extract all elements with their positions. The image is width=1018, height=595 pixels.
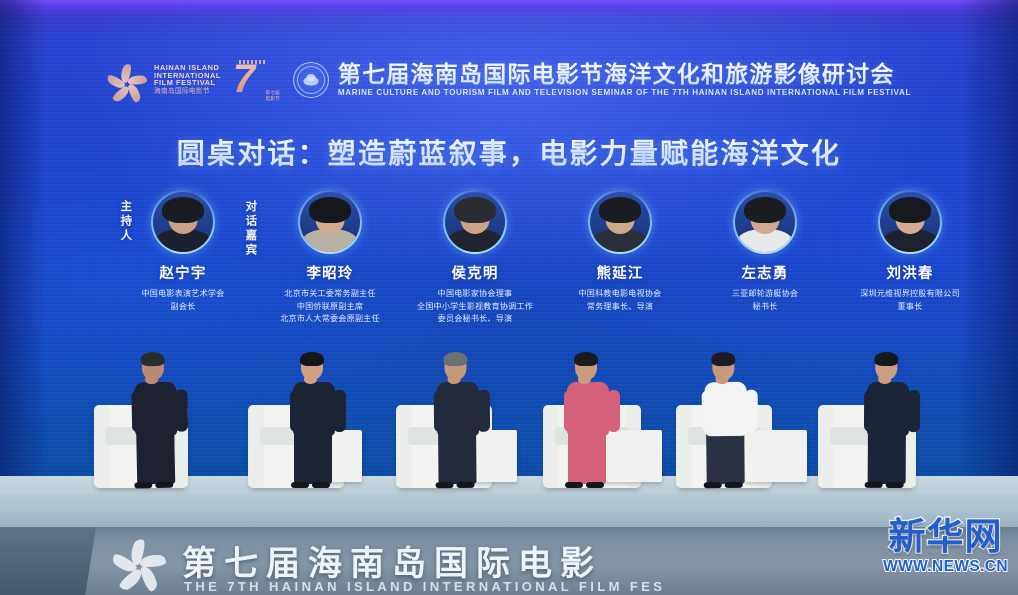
seated-person (431, 352, 492, 493)
apron-left-panel (0, 527, 96, 595)
panelist-name: 熊延江 (545, 262, 695, 283)
pinwheel-petal (139, 564, 158, 592)
apron-banner-cn: 第七届海南岛国际电影 (182, 536, 602, 585)
avatar-portrait (880, 192, 940, 252)
apron-banner-en: THE 7TH HAINAN ISLAND INTERNATIONAL FILM… (184, 579, 665, 594)
panelist-title: 中国电影表演艺术学会副会长 (108, 288, 258, 313)
festival-logo-text: HAINAN ISLAND INTERNATIONAL FILM FESTIVA… (154, 64, 221, 96)
avatar-portrait (735, 192, 795, 252)
pinwheel-petal (140, 555, 166, 567)
panelist-card: 赵宁宇中国电影表演艺术学会副会长 (108, 190, 258, 313)
panelist-card: 左志勇三亚邮轮游艇协会秘书长 (690, 190, 840, 313)
page-title: 圆桌对话：塑造蔚蓝叙事，电影力量赋能海洋文化 (0, 132, 1018, 172)
panelist-name: 侯克明 (400, 262, 550, 283)
panelist-title: 深圳元维视界控股有限公司董事长 (835, 288, 985, 313)
panelist-card: 侯克明中国电影家协会理事全国中小学生影视教育协调工作委员会秘书长、导演 (400, 190, 550, 326)
hainan-film-festival-logo: HAINAN ISLAND INTERNATIONAL FILM FESTIVA… (107, 60, 221, 100)
screenshot-root: HAINAN ISLAND INTERNATIONAL FILM FESTIVA… (0, 0, 1018, 595)
avatar-portrait (590, 192, 650, 252)
watermark-cn: 新华网 (883, 518, 1008, 555)
marine-culture-seal-icon (293, 62, 329, 98)
avatar-portrait (300, 192, 360, 252)
header-title-en: MARINE CULTURE AND TOURISM FILM AND TELE… (338, 89, 911, 98)
panelist-title: 北京市关工委常务副主任中国侨联原副主席北京市人大常委会原副主任 (255, 288, 405, 326)
film-perforation-bar-icon (239, 60, 265, 64)
avatar-portrait (445, 192, 505, 252)
panelist-card: 刘洪春深圳元维视界控股有限公司董事长 (835, 190, 985, 313)
festival-logo-en-line3: FILM FESTIVAL (154, 79, 221, 87)
panelist-name: 左志勇 (690, 262, 840, 283)
panelist-title: 中国科教电影电视协会常务理事长、导演 (545, 288, 695, 313)
avatar-portrait (153, 192, 213, 252)
watermark-url: WWW.NEWS.CN (883, 559, 1008, 575)
avatar (443, 190, 507, 254)
festival-logo-cn: 海南岛国际电影节 (154, 89, 221, 96)
seated-person (862, 352, 923, 492)
panelist-card: 熊延江中国科教电影电视协会常务理事长、导演 (545, 190, 695, 313)
header-titles: 第七届海南岛国际电影节海洋文化和旅游影像研讨会 MARINE CULTURE A… (338, 62, 911, 98)
panelist-title: 三亚邮轮游艇协会秘书长 (690, 288, 840, 313)
header-lockup: HAINAN ISLAND INTERNATIONAL FILM FESTIVA… (0, 52, 1018, 108)
numeral-subcaption: 第七届电影节 (266, 90, 280, 101)
avatar (588, 190, 652, 254)
panelist-strip: 赵宁宇中国电影表演艺术学会副会长李昭玲北京市关工委常务副主任中国侨联原副主席北京… (0, 190, 1018, 338)
panelist-title: 中国电影家协会理事全国中小学生影视教育协调工作委员会秘书长、导演 (400, 288, 550, 326)
panelist-card: 李昭玲北京市关工委常务副主任中国侨联原副主席北京市人大常委会原副主任 (255, 190, 405, 326)
avatar (733, 190, 797, 254)
avatar (878, 190, 942, 254)
pinwheel-flower-icon (107, 60, 147, 100)
panelist-name: 赵宁宇 (108, 262, 258, 283)
avatar (151, 190, 215, 254)
seated-person (129, 351, 192, 492)
stage-apron-banner: 第七届海南岛国际电影 THE 7TH HAINAN ISLAND INTERNA… (0, 527, 1018, 595)
apron-pinwheel-icon (110, 533, 168, 589)
wall-top-glow (0, 0, 1018, 16)
xinhua-watermark: 新华网 WWW.NEWS.CN (883, 518, 1008, 575)
pinwheel-petal (127, 83, 141, 104)
panelist-name: 刘洪春 (835, 262, 985, 283)
seated-person (699, 352, 761, 493)
panelist-name: 李昭玲 (255, 262, 405, 283)
seated-person (562, 352, 622, 492)
header-title-cn: 第七届海南岛国际电影节海洋文化和旅游影像研讨会 (338, 62, 911, 86)
seated-person (288, 352, 348, 492)
edition-numeral-seven: 7 第七届电影节 (233, 58, 279, 102)
avatar (298, 190, 362, 254)
